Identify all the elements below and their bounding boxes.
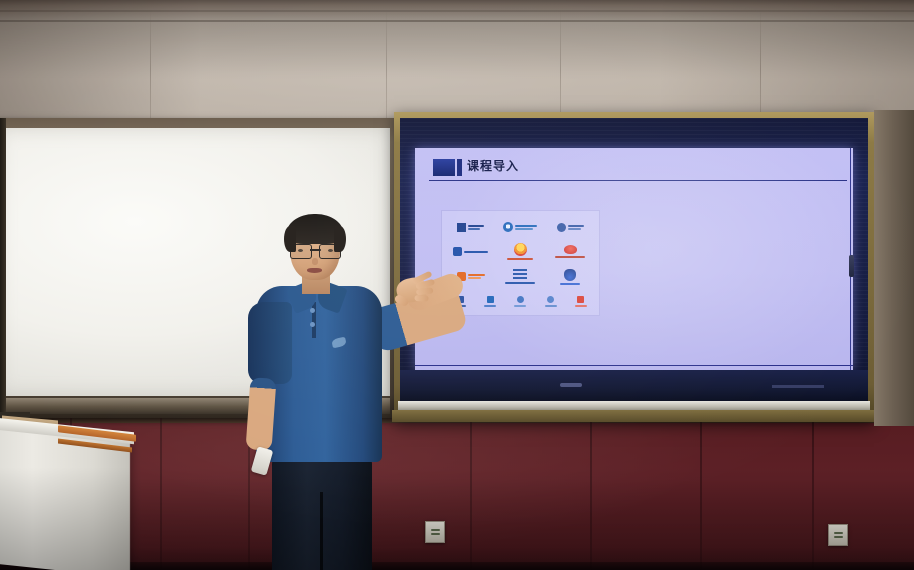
logo-4-wordmark — [464, 251, 488, 253]
mini-2-label — [484, 305, 496, 307]
instructor-left-sleeve — [248, 302, 292, 384]
mini-3-label — [514, 305, 526, 307]
mini-4-icon — [547, 296, 554, 303]
logo-1-wordmark — [468, 225, 484, 230]
instructor-leg-separation — [320, 492, 323, 570]
logo-2-icon — [503, 222, 513, 232]
logo-8-fan-icon — [513, 269, 527, 280]
logo-3-wordmark — [568, 225, 584, 230]
smart-display-brand-mark — [560, 383, 582, 387]
slide-logo-mini-row — [445, 290, 596, 312]
presentation-clicker[interactable] — [251, 446, 274, 475]
wall-power-outlet-right[interactable] — [828, 524, 848, 546]
logo-item — [545, 264, 595, 289]
slide-logo-grid — [446, 215, 595, 289]
mini-4-label — [545, 305, 557, 307]
mini-logo-item — [505, 290, 535, 312]
mini-logo-item — [566, 290, 596, 312]
slide-logo-panel — [441, 210, 600, 316]
mini-2-icon — [487, 296, 494, 303]
smart-display-foot-frame — [392, 410, 876, 422]
power-button[interactable] — [849, 255, 854, 277]
logo-item — [545, 215, 595, 240]
instructor-mouth — [307, 268, 322, 273]
right-wall-return — [874, 110, 914, 426]
instructor-shirt-button — [310, 308, 315, 313]
mini-5-icon — [577, 296, 584, 303]
logo-9-wordmark — [560, 283, 580, 285]
logo-3-icon — [557, 223, 566, 232]
slide-title-accent-block — [433, 159, 455, 176]
smart-display-model-text — [772, 385, 824, 388]
mini-logo-item — [475, 290, 505, 312]
logo-5-sun-icon — [514, 243, 527, 256]
logo-9-vase-icon — [564, 269, 576, 281]
logo-item — [496, 240, 546, 265]
instructor — [228, 206, 460, 570]
logo-item — [545, 240, 595, 265]
smart-display-screen[interactable]: 课程导入 — [415, 148, 853, 370]
whiteboard-left-shadow — [0, 118, 6, 418]
logo-2-wordmark — [515, 225, 537, 230]
logo-6-rose-icon — [564, 245, 577, 254]
logo-item — [496, 215, 546, 240]
logo-8-wordmark — [505, 282, 535, 284]
logo-7-wordmark — [468, 274, 485, 279]
mini-5-label — [575, 305, 587, 307]
mini-logo-item — [536, 290, 566, 312]
instructor-nose — [312, 258, 318, 265]
slide-title-accent-bar — [457, 159, 462, 176]
mini-3-icon — [517, 296, 524, 303]
slide-header: 课程导入 — [415, 154, 853, 182]
classroom-scene: 课程导入 — [0, 0, 914, 570]
slide-title-underline — [429, 180, 847, 181]
logo-6-wordmark — [555, 256, 585, 258]
logo-5-wordmark — [507, 258, 533, 260]
instructor-left-arm — [246, 377, 277, 451]
logo-item — [496, 264, 546, 289]
slide-title: 课程导入 — [467, 157, 519, 174]
instructor-shirt-button — [310, 322, 315, 327]
